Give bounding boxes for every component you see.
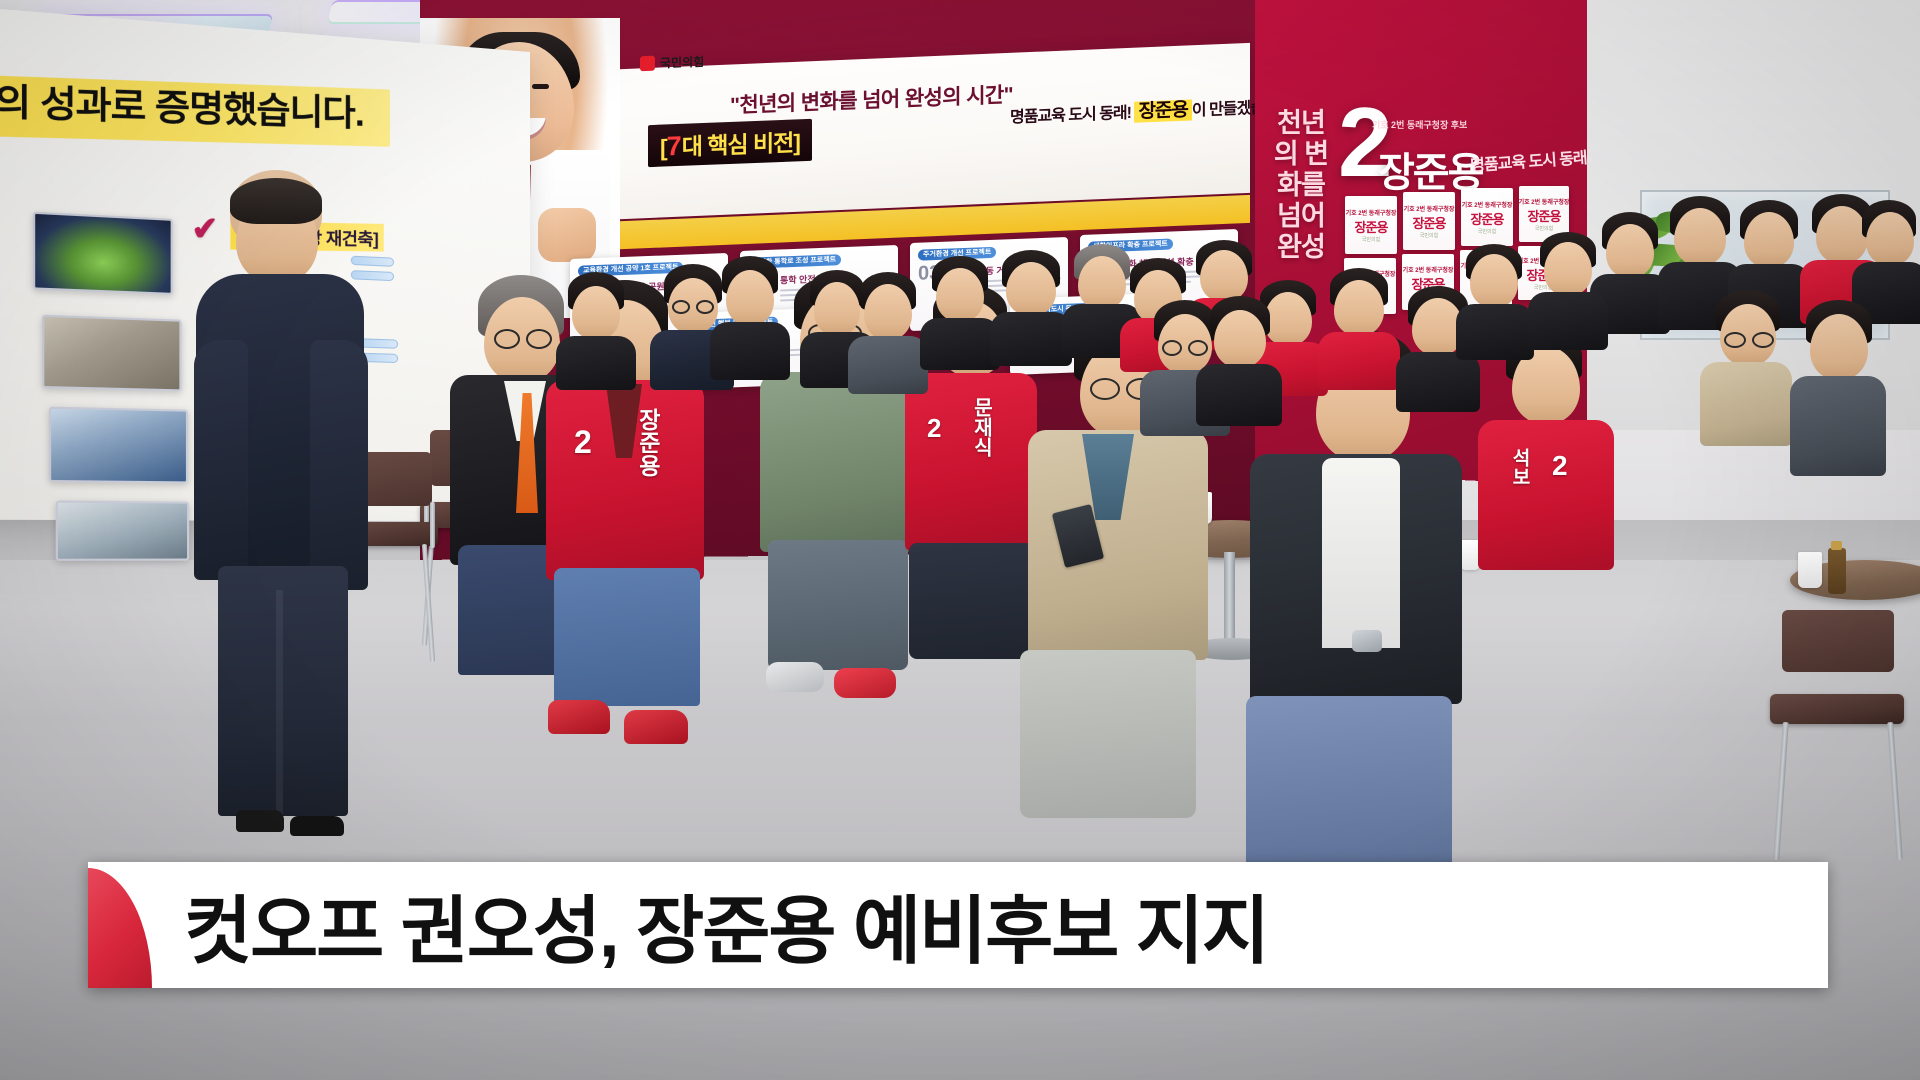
placard-bottom-text: 국민의힘 — [1535, 225, 1553, 232]
crowd-member — [990, 250, 1072, 362]
glasses-icon — [1162, 340, 1182, 356]
placard-name: 장준용 — [1355, 217, 1388, 236]
placard-top-text: 기호 2번 동래구청장 — [1519, 197, 1569, 206]
paper-cup — [1798, 552, 1822, 588]
panel-thumbnail-aerial — [42, 315, 182, 392]
party-logo: 국민의힘 — [640, 53, 704, 72]
glasses-icon — [1724, 332, 1746, 348]
glasses-icon — [1752, 332, 1774, 348]
caption-headline: 컷오프 권오성, 장준용 예비후보 지지 — [184, 872, 1268, 979]
panel-headline: 이상의 성과로 증명했습니다. — [0, 69, 404, 138]
vest-name-label: 석보 — [1510, 448, 1528, 486]
crowd-member — [920, 256, 1000, 366]
vest-number: 2 — [574, 424, 592, 461]
tagline-candidate-name: 장준용 — [1134, 99, 1191, 122]
crowd-member — [1790, 300, 1886, 470]
seven-vision-label: [7대 핵심 비전] — [648, 119, 812, 167]
crowd-member — [1528, 232, 1608, 346]
panel-thumbnail-facility — [56, 501, 190, 561]
glasses-icon — [494, 329, 520, 349]
vest-number: 2 — [1552, 450, 1568, 482]
placard-name: 장준용 — [1528, 206, 1561, 225]
panel-thumbnail-stadium — [33, 212, 173, 295]
placard-top-text: 기호 2번 동래구청장 — [1346, 208, 1397, 217]
placard-top-text: 기호 2번 동래구청장 — [1403, 265, 1454, 274]
campaign-placard: 기호 2번 동래구청장 장준용 국민의힘 — [1461, 188, 1513, 246]
placard-top-text: 기호 2번 동래구청장 — [1462, 200, 1513, 209]
placard-name: 장준용 — [1471, 209, 1504, 228]
crowd-member — [1456, 244, 1534, 356]
beverage-bottle — [1828, 548, 1846, 594]
campaign-placard: 기호 2번 동래구청장 장준용 국민의힘 — [1403, 192, 1455, 250]
panel-thumbnail-building — [49, 407, 188, 484]
tagline-prefix: 명품교육 도시 동래! — [1010, 105, 1131, 127]
placard-top-text: 기호 2번 동래구청장 — [1404, 204, 1455, 213]
standing-speaker — [190, 170, 370, 830]
vision-number: 7 — [667, 131, 682, 162]
party-mark-icon — [640, 56, 655, 72]
glasses-icon — [1090, 378, 1120, 400]
lower-third-caption-bar: 컷오프 권오성, 장준용 예비후보 지지 — [88, 862, 1828, 988]
vision-bracket-open: [ — [660, 134, 667, 160]
broadcast-frame: 국민의힘 "천년의 변화를 넘어 완성의 시간" [7대 핵심 비전] 명품교육… — [0, 0, 1920, 1080]
crowd-member — [710, 256, 790, 376]
crowd-member — [1700, 290, 1792, 440]
crowd-member — [1318, 268, 1400, 388]
seated-attendee-red-vest-3: 2 석보 — [1478, 330, 1618, 560]
crowd-member — [556, 272, 636, 382]
placard-name: 장준용 — [1413, 213, 1446, 232]
placard-bottom-text: 국민의힘 — [1478, 228, 1496, 235]
candidate-small-line: 기호 2번 동래구청장 후보 — [1372, 118, 1467, 131]
crowd-member — [848, 272, 928, 388]
placard-bottom-text: 국민의힘 — [1420, 232, 1438, 239]
campaign-placard: 기호 2번 동래구청장 장준용 국민의힘 — [1345, 196, 1397, 254]
right-wall-vertical-slogan: 천년의 변화를 넘어 완성 — [1268, 108, 1334, 263]
vision-label-text: 대 핵심 비전] — [682, 129, 800, 160]
caption-accent-shape — [88, 868, 152, 988]
vest-number: 2 — [927, 413, 941, 444]
party-name-label: 국민의힘 — [660, 53, 704, 72]
glasses-icon — [672, 300, 690, 314]
crowd-member — [1196, 296, 1282, 424]
vest-name-label: 장준용 — [636, 408, 658, 477]
placard-bottom-text: 국민의힘 — [1362, 236, 1380, 243]
vest-name-label: 문재식 — [971, 397, 990, 457]
